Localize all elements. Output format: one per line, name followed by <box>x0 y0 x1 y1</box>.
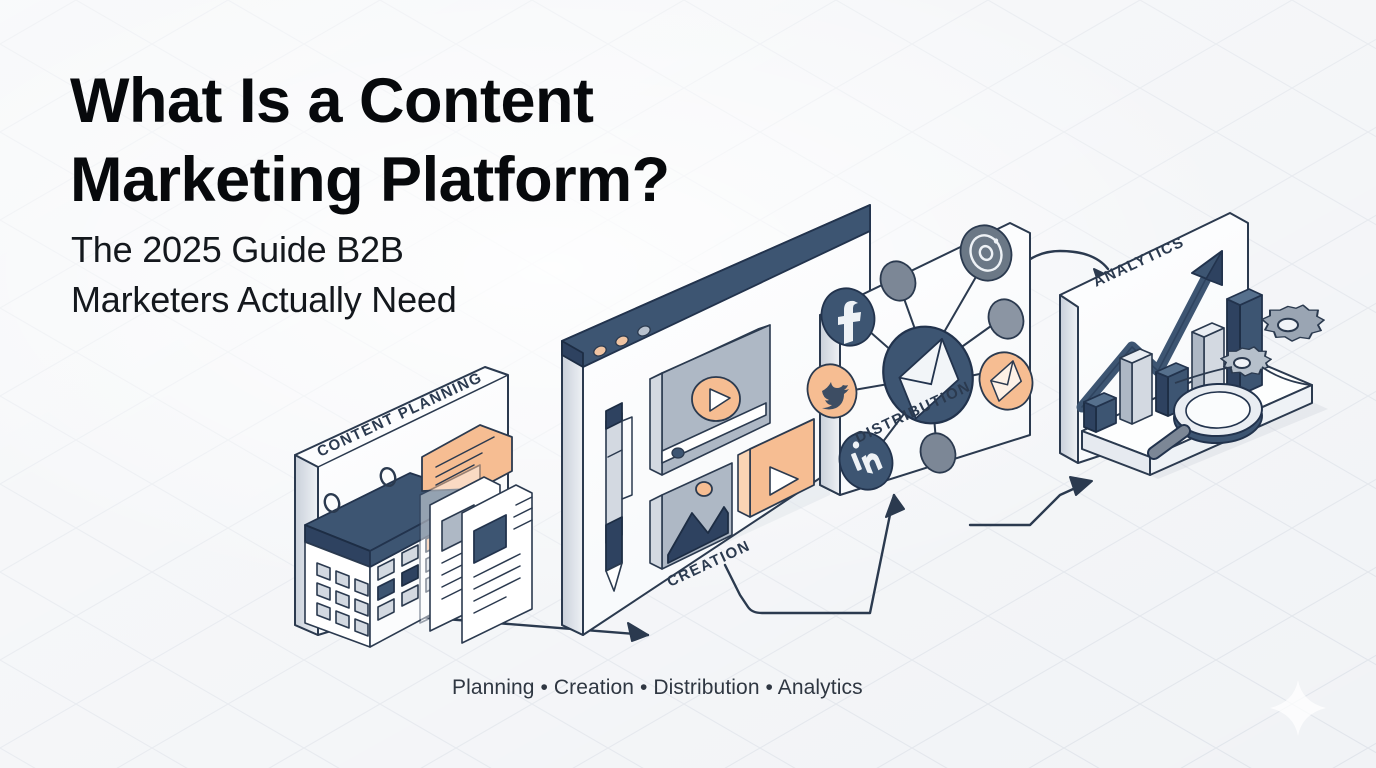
sparkle-icon <box>1268 678 1328 738</box>
document-icon-front <box>462 485 532 643</box>
headline-line-1: What Is a Content <box>70 66 594 136</box>
stage-planning: CONTENT PLANNING <box>295 367 532 647</box>
gear-icon-large <box>1262 305 1324 341</box>
connector-distribution-to-analytics-base <box>970 477 1092 525</box>
workflow-illustration: .ol { fill:none; stroke:#2b3a4f; stroke-… <box>270 195 1330 675</box>
stage-analytics: ANALYTICS <box>1060 213 1328 479</box>
stage-caption: Planning • Creation • Distribution • Ana… <box>452 676 863 700</box>
hero-banner: What Is a Content Marketing Platform? Th… <box>0 0 1376 768</box>
